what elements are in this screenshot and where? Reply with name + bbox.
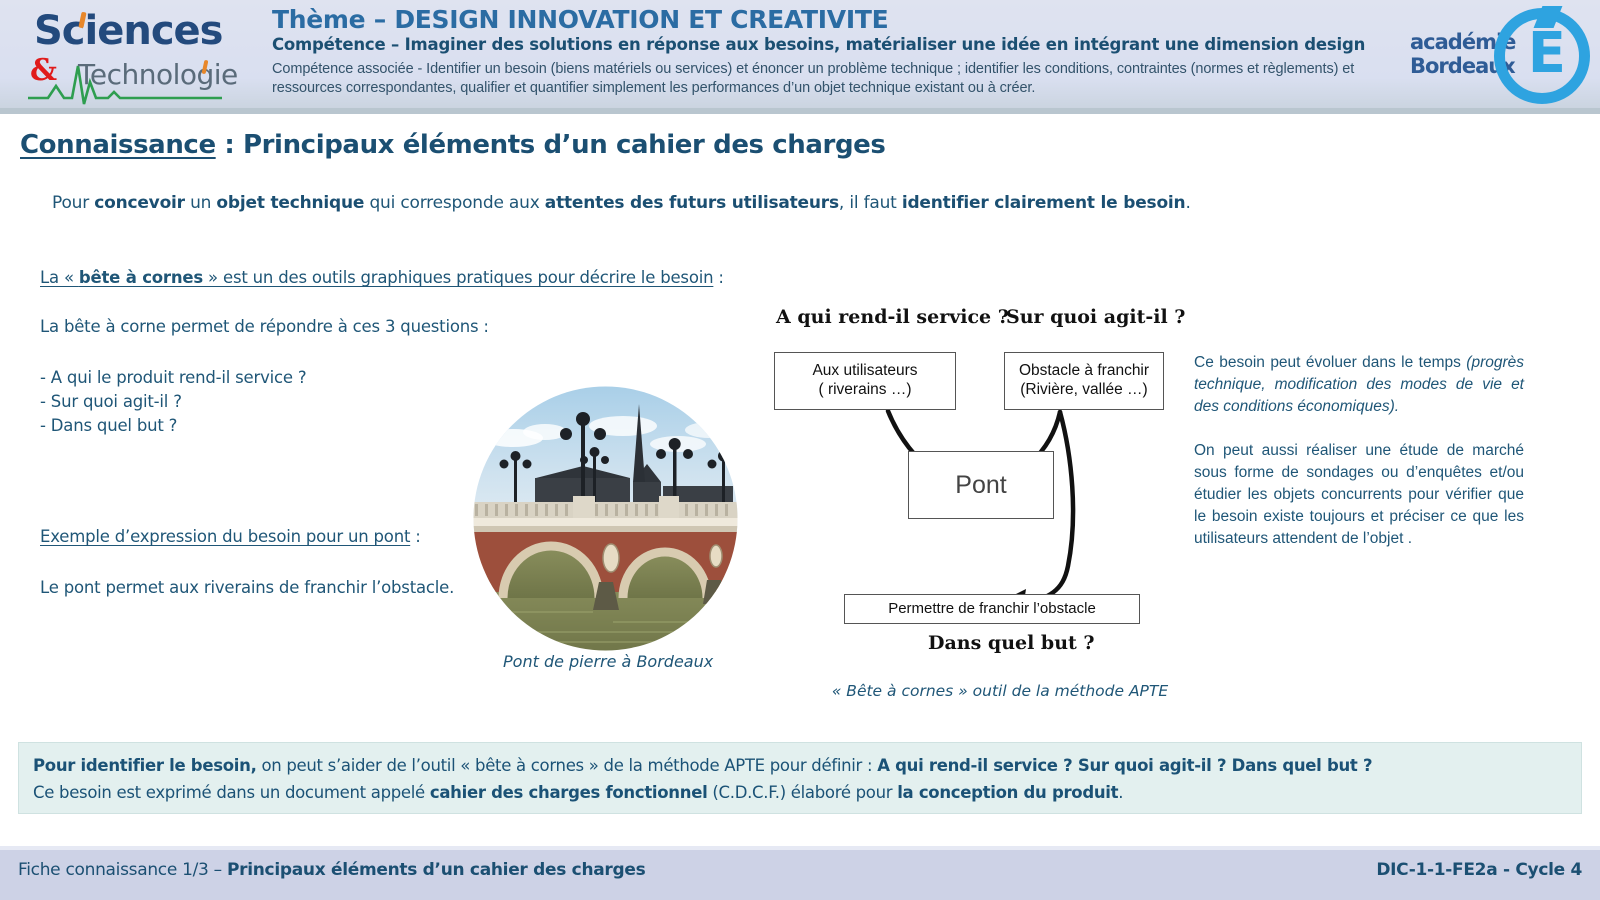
diagram-caption: « Bête à cornes » outil de la méthode AP… — [790, 682, 1210, 700]
diagram-label-left: A qui rend-il service ? — [776, 306, 1009, 328]
logo-text-technologie: Technologie — [78, 58, 238, 91]
diagram-box-users-line2: ( riverains …) — [775, 381, 955, 400]
summary-line2-a: Ce besoin est exprimé dans un document a… — [33, 783, 430, 802]
logo-text-ampersand: & — [30, 53, 57, 88]
summary-box: Pour identifier le besoin, on peut s’aid… — [18, 742, 1582, 814]
three-questions-lead: La bête à corne permet de répondre à ces… — [40, 317, 730, 336]
example-heading-colon: : — [410, 527, 420, 546]
definition-part-a: La « — [40, 268, 79, 287]
summary-line1-questions: A qui rend-il service ? Sur quoi agit-il… — [877, 756, 1372, 775]
diagram-box-purpose: Permettre de franchir l’obstacle — [844, 594, 1140, 624]
summary-line1-bold: Pour identifier le besoin, — [33, 756, 257, 775]
diagram-label-bottom: Dans quel but ? — [928, 632, 1095, 654]
definition-bold-term: bête à cornes — [79, 268, 203, 287]
intro-bold-objet-technique: objet technique — [216, 193, 364, 213]
intro-bold-attentes: attentes des futurs utilisateurs — [545, 193, 839, 213]
footer-sheet-label: Fiche connaissance 1/3 – Principaux élém… — [18, 860, 645, 880]
diagram-box-obstacle: Obstacle à franchir (Rivière, vallée …) — [1004, 352, 1164, 410]
slide-page: Sciences & Technologie Thème – DESIGN IN… — [0, 0, 1600, 900]
intro-part4: , il faut — [839, 193, 902, 213]
right-para1-roman: Ce besoin peut évoluer dans le temps — [1194, 354, 1466, 371]
diagram-box-product: Pont — [908, 451, 1054, 519]
summary-line2-conception: la conception du produit — [897, 783, 1118, 802]
summary-line-2: Ce besoin est exprimé dans un document a… — [33, 780, 1567, 807]
right-paragraph-2: On peut aussi réaliser une étude de marc… — [1194, 440, 1524, 550]
bete-a-cornes-definition: La « bête à cornes » est un des outils g… — [40, 268, 730, 287]
header-competence: Compétence – Imaginer des solutions en r… — [272, 36, 1402, 55]
definition-part-b: » est un des outils graphiques pratiques… — [203, 268, 713, 287]
diagram-box-obstacle-line1: Obstacle à franchir — [1005, 362, 1163, 381]
right-text-column: Ce besoin peut évoluer dans le temps (pr… — [1194, 352, 1524, 550]
example-heading: Exemple d’expression du besoin pour un p… — [40, 527, 410, 546]
summary-line1-normal: on peut s’aider de l’outil « bête à corn… — [257, 756, 878, 775]
photo-caption: Pont de pierre à Bordeaux — [503, 652, 803, 671]
header-theme: Thème – DESIGN INNOVATION ET CREATIVITE — [272, 6, 1402, 33]
intro-part1: Pour — [52, 193, 94, 213]
logo-text-sciences: Sciences — [34, 8, 222, 54]
footer-sheet-normal: Fiche connaissance 1/3 – — [18, 860, 227, 880]
footer-top-rule — [0, 846, 1600, 850]
footer-sheet-bold: Principaux éléments d’un cahier des char… — [227, 860, 645, 880]
summary-line2-b: (C.D.C.F.) élaboré pour — [707, 783, 897, 802]
intro-sentence: Pour concevoir un objet technique qui co… — [52, 193, 1352, 213]
intro-bold-concevoir: concevoir — [94, 193, 185, 213]
diagram-box-users-line1: Aux utilisateurs — [775, 362, 955, 381]
diagram-box-users: Aux utilisateurs ( riverains …) — [774, 352, 956, 410]
page-title: Connaissance : Principaux éléments d’un … — [20, 130, 886, 160]
academie-e-letter: E — [1528, 26, 1566, 82]
definition-underlined: La « bête à cornes » est un des outils g… — [40, 268, 713, 287]
pont-de-pierre-illustration — [473, 386, 738, 651]
diagram-box-product-label: Pont — [909, 470, 1053, 501]
sciences-technologie-logo: Sciences & Technologie — [18, 6, 233, 106]
intro-bold-identifier: identifier clairement le besoin — [902, 193, 1186, 213]
intro-part2: un — [185, 193, 217, 213]
header-text-block: Thème – DESIGN INNOVATION ET CREATIVITE … — [272, 6, 1402, 98]
summary-line2-c: . — [1118, 783, 1123, 802]
diagram-box-purpose-label: Permettre de franchir l’obstacle — [845, 600, 1139, 618]
title-knowledge-label: Connaissance — [20, 130, 216, 160]
header-competence-associee: Compétence associée - Identifier un beso… — [272, 60, 1402, 98]
summary-line2-cdcf: cahier des charges fonctionnel — [430, 783, 708, 802]
header-divider — [0, 108, 1600, 114]
title-subject: Principaux éléments d’un cahier des char… — [243, 130, 886, 160]
question-item-1: - A qui le produit rend-il service ? — [40, 366, 730, 390]
intro-part5: . — [1185, 193, 1190, 213]
right-paragraph-1: Ce besoin peut évoluer dans le temps (pr… — [1194, 352, 1524, 418]
summary-line-1: Pour identifier le besoin, on peut s’aid… — [33, 753, 1567, 780]
academie-bordeaux-logo: académie Bordeaux E — [1402, 4, 1592, 108]
bete-a-cornes-diagram: A qui rend-il service ? Sur quoi agit-il… — [760, 306, 1180, 666]
definition-colon: : — [713, 268, 723, 287]
header-banner: Sciences & Technologie Thème – DESIGN IN… — [0, 0, 1600, 112]
diagram-label-right: Sur quoi agit-il ? — [1006, 306, 1185, 328]
intro-part3: qui corresponde aux — [364, 193, 545, 213]
footer-bar: Fiche connaissance 1/3 – Principaux élém… — [0, 846, 1600, 900]
title-separator: : — [216, 130, 243, 160]
diagram-box-obstacle-line2: (Rivière, vallée …) — [1005, 381, 1163, 400]
bridge-photo — [473, 386, 738, 651]
footer-reference-code: DIC-1-1-FE2a - Cycle 4 — [1376, 860, 1582, 880]
